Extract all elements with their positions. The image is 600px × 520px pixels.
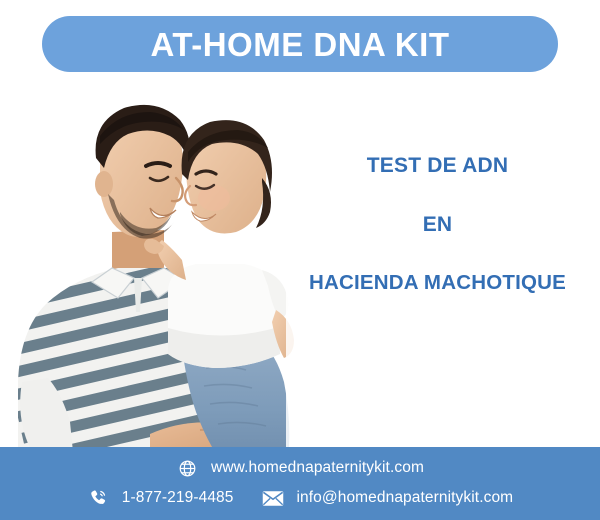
headline-block: TEST DE ADN EN HACIENDA MACHOTIQUE xyxy=(285,155,590,294)
father-and-child-photo xyxy=(0,82,310,462)
headline-line-3: HACIENDA MACHOTIQUE xyxy=(285,273,590,294)
poster-root: AT-HOME DNA KIT xyxy=(0,0,600,520)
headline-line-1: TEST DE ADN xyxy=(285,155,590,176)
title-banner-pill: AT-HOME DNA KIT xyxy=(42,16,558,72)
globe-icon xyxy=(176,457,198,479)
footer-website-row: www.homednapaternitykit.com xyxy=(0,457,600,479)
contact-footer-bar: www.homednapaternitykit.com 1-877-219-44… xyxy=(0,447,600,520)
website-text[interactable]: www.homednapaternitykit.com xyxy=(211,459,424,477)
headline-line-2: EN xyxy=(285,214,590,235)
footer-contact-row: 1-877-219-4485 info@homednapaternitykit.… xyxy=(0,487,600,509)
phone-icon xyxy=(87,487,109,509)
phone-text[interactable]: 1-877-219-4485 xyxy=(122,489,234,507)
title-banner-text: AT-HOME DNA KIT xyxy=(151,28,450,61)
email-text[interactable]: info@homednapaternitykit.com xyxy=(297,489,514,507)
envelope-icon xyxy=(262,487,284,509)
